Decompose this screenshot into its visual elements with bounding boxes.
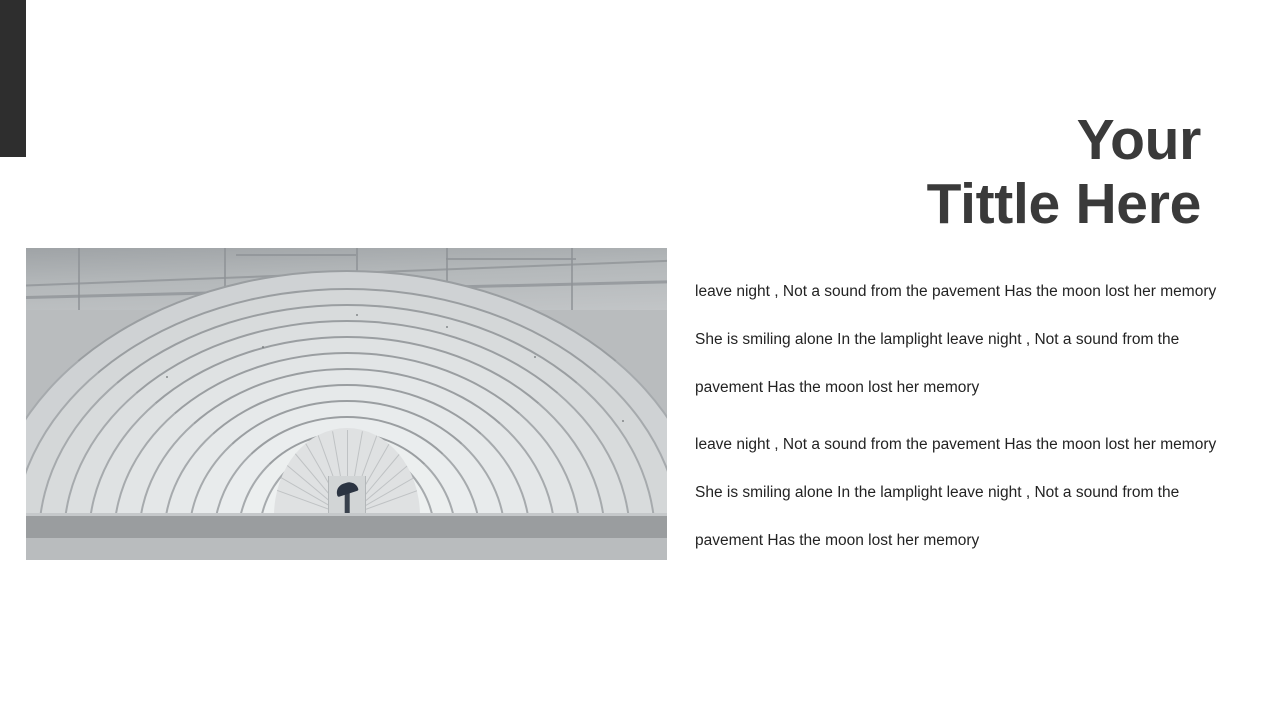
photo-speck <box>356 314 358 316</box>
decorative-accent-bar <box>0 0 26 157</box>
photo-speck <box>622 420 624 422</box>
title-line-2: Tittle Here <box>681 172 1201 236</box>
amphitheater-dome-photo <box>26 248 667 560</box>
photo-stage-floor <box>26 516 667 538</box>
photo-speck <box>262 346 264 348</box>
paragraph-2: leave night , Not a sound from the pavem… <box>695 421 1223 565</box>
body-text-block: leave night , Not a sound from the pavem… <box>695 268 1223 565</box>
title-line-1: Your <box>681 108 1201 172</box>
photo-speck <box>534 356 536 358</box>
ceiling-beam-icon <box>236 254 356 256</box>
photo-dome-ribs <box>26 278 667 538</box>
paragraph-1: leave night , Not a sound from the pavem… <box>695 268 1223 412</box>
page-title: Your Tittle Here <box>681 108 1201 236</box>
ceiling-beam-icon <box>446 258 576 260</box>
photo-speck <box>446 326 448 328</box>
photo-speck <box>166 376 168 378</box>
